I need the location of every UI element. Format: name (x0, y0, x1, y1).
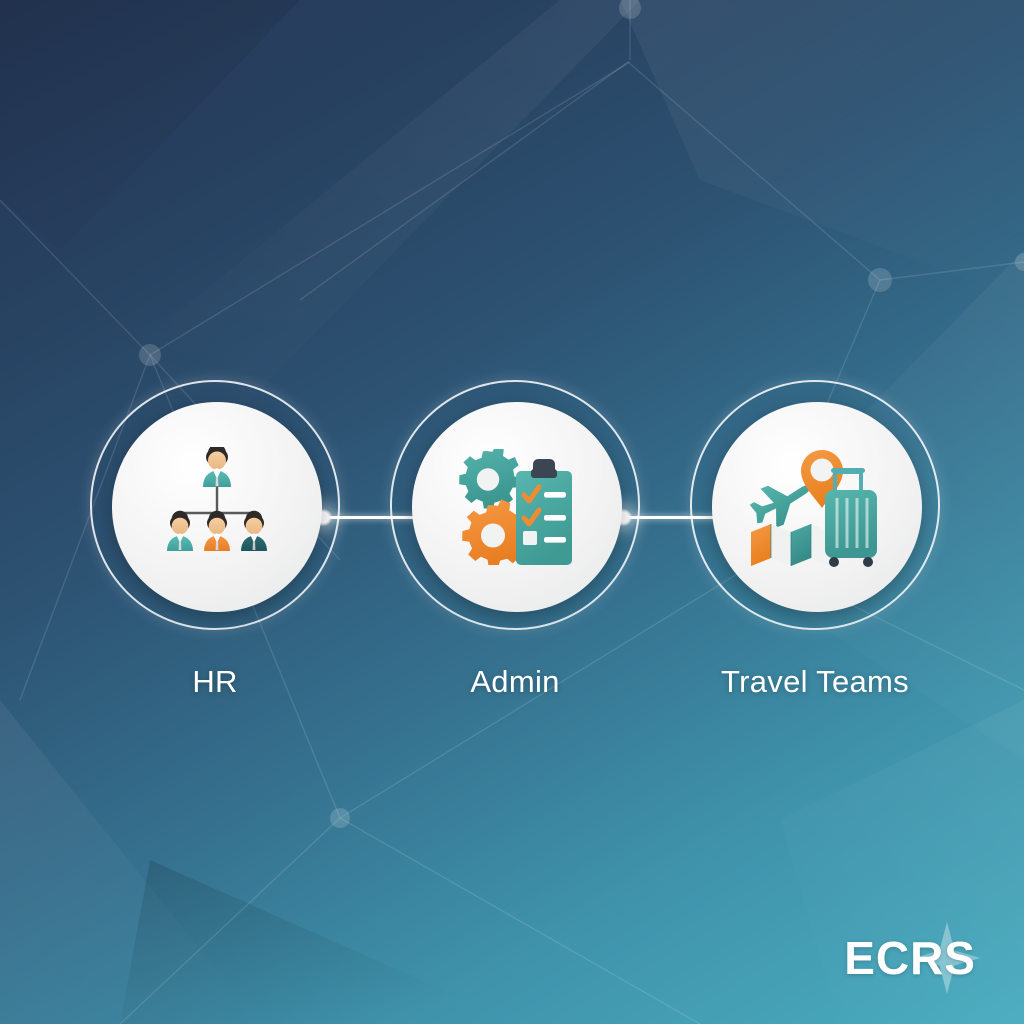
infographic-canvas: HR (0, 0, 1024, 1024)
flow-node-label-travel-teams: Travel Teams (670, 664, 960, 700)
empty-checkbox (523, 531, 537, 545)
node-icon-disc (712, 402, 922, 612)
flow-node-hr[interactable]: HR (70, 380, 360, 720)
staff-person-dark-teal (241, 511, 267, 551)
clipboard-teal (516, 459, 572, 565)
node-outer-ring (690, 380, 940, 630)
node-icon-disc (112, 402, 322, 612)
manager-person-teal (203, 447, 231, 487)
node-icon-disc (412, 402, 622, 612)
gear-teal (459, 449, 520, 509)
flow-node-label-admin: Admin (370, 664, 660, 700)
flow-node-admin[interactable]: Admin (370, 380, 660, 720)
brand-logo-text: ECRS (844, 932, 982, 984)
brand-logo: ECRS (844, 930, 982, 986)
process-flow-node-row: HR (0, 380, 1024, 720)
staff-person-teal (167, 511, 193, 551)
folded-map (751, 524, 829, 566)
org-chart-people-icon (155, 447, 279, 567)
flow-node-label-hr: HR (70, 664, 360, 700)
staff-person-orange (204, 511, 230, 551)
gears-clipboard-icon (454, 449, 580, 565)
travel-icon (747, 446, 887, 568)
flow-node-travel-teams[interactable]: Travel Teams (670, 380, 960, 720)
node-outer-ring (90, 380, 340, 630)
node-outer-ring (390, 380, 640, 630)
